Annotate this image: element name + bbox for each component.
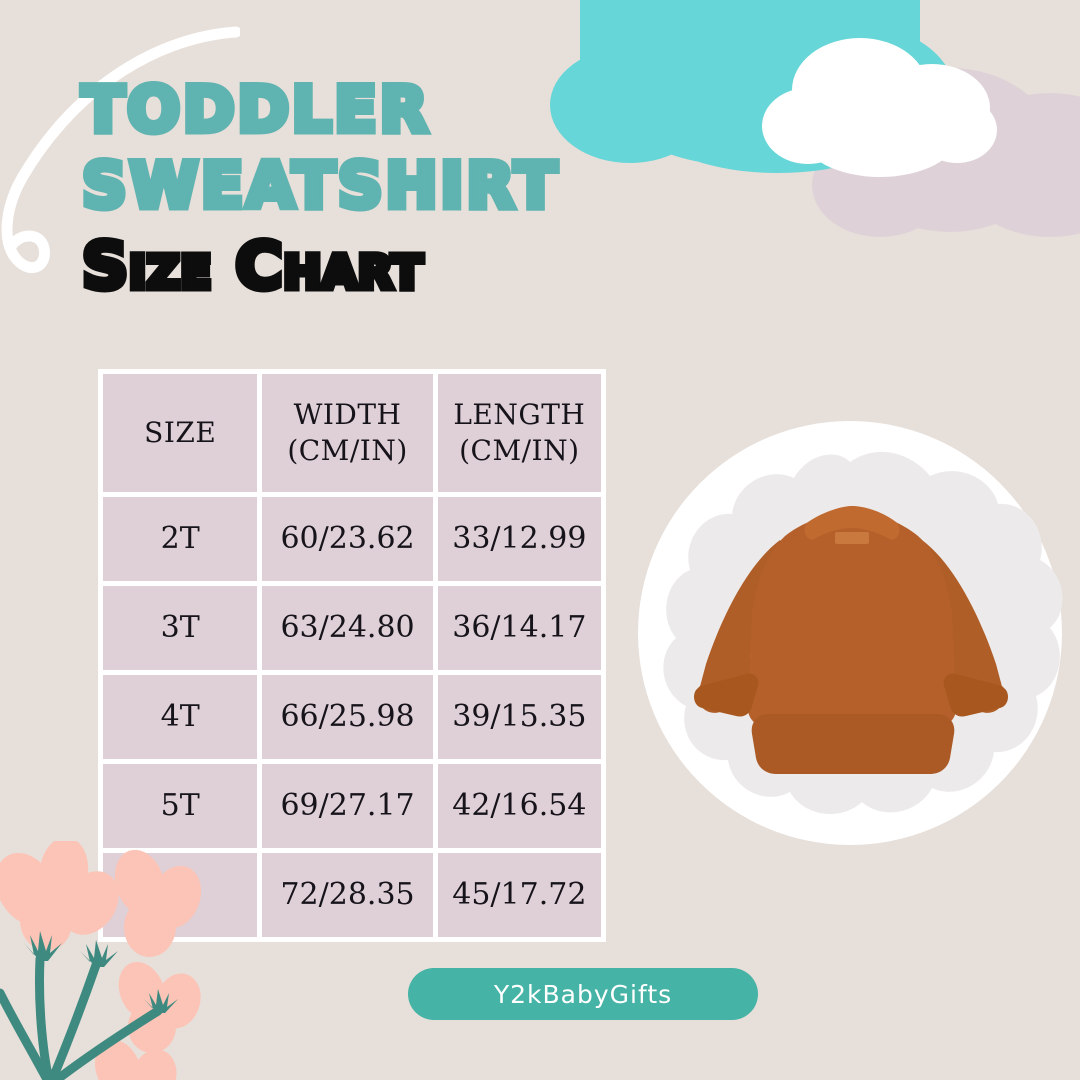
flower-stems-icon (0, 959, 158, 1080)
cell-length: 45/17.72 (438, 853, 601, 937)
cell-size: 4T (103, 675, 257, 759)
table-row: 4T 66/25.98 39/15.35 (103, 675, 601, 759)
table-row: 5T 69/27.17 42/16.54 (103, 764, 601, 848)
table-row: 2T 60/23.62 33/12.99 (103, 497, 601, 581)
cell-length: 36/14.17 (438, 586, 601, 670)
cell-size: 3T (103, 586, 257, 670)
cell-width: 69/27.17 (262, 764, 432, 848)
cell-length: 39/15.35 (438, 675, 601, 759)
heading-block: Toddler Sweatshirt Size Chart (82, 72, 782, 306)
page-title: Size Chart (82, 228, 782, 306)
brand-badge[interactable]: Y2kBabyGifts (408, 968, 758, 1020)
size-chart-table: SIZE WIDTH (CM/IN) LENGTH (CM/IN) 2T 60/… (98, 369, 606, 942)
cell-size: 5T (103, 764, 257, 848)
cloud-mauve-icon (812, 68, 1080, 237)
cell-width: 66/25.98 (262, 675, 432, 759)
size-chart-canvas: Toddler Sweatshirt Size Chart SIZE WIDTH… (0, 0, 1080, 1080)
cell-length: 42/16.54 (438, 764, 601, 848)
table-header-row: SIZE WIDTH (CM/IN) LENGTH (CM/IN) (103, 374, 601, 492)
title-line-toddler: Toddler (82, 72, 782, 148)
cell-size: 2T (103, 497, 257, 581)
brand-name: Y2kBabyGifts (494, 980, 672, 1009)
cell-width: 72/28.35 (262, 853, 432, 937)
flower-calyx-icon (24, 931, 178, 1013)
column-header-width: WIDTH (CM/IN) (262, 374, 432, 492)
table-row: 6T 72/28.35 45/17.72 (103, 853, 601, 937)
neck-tag (835, 532, 869, 544)
cell-width: 60/23.62 (262, 497, 432, 581)
column-header-length: LENGTH (CM/IN) (438, 374, 601, 492)
cloud-white-icon (762, 38, 997, 177)
photo-inner-area (630, 418, 1070, 848)
product-photo (630, 418, 1070, 896)
column-header-size: SIZE (103, 374, 257, 492)
cell-size: 6T (103, 853, 257, 937)
cell-width: 63/24.80 (262, 586, 432, 670)
table-row: 3T 63/24.80 36/14.17 (103, 586, 601, 670)
cell-length: 33/12.99 (438, 497, 601, 581)
title-line-sweatshirt: Sweatshirt (82, 148, 782, 224)
